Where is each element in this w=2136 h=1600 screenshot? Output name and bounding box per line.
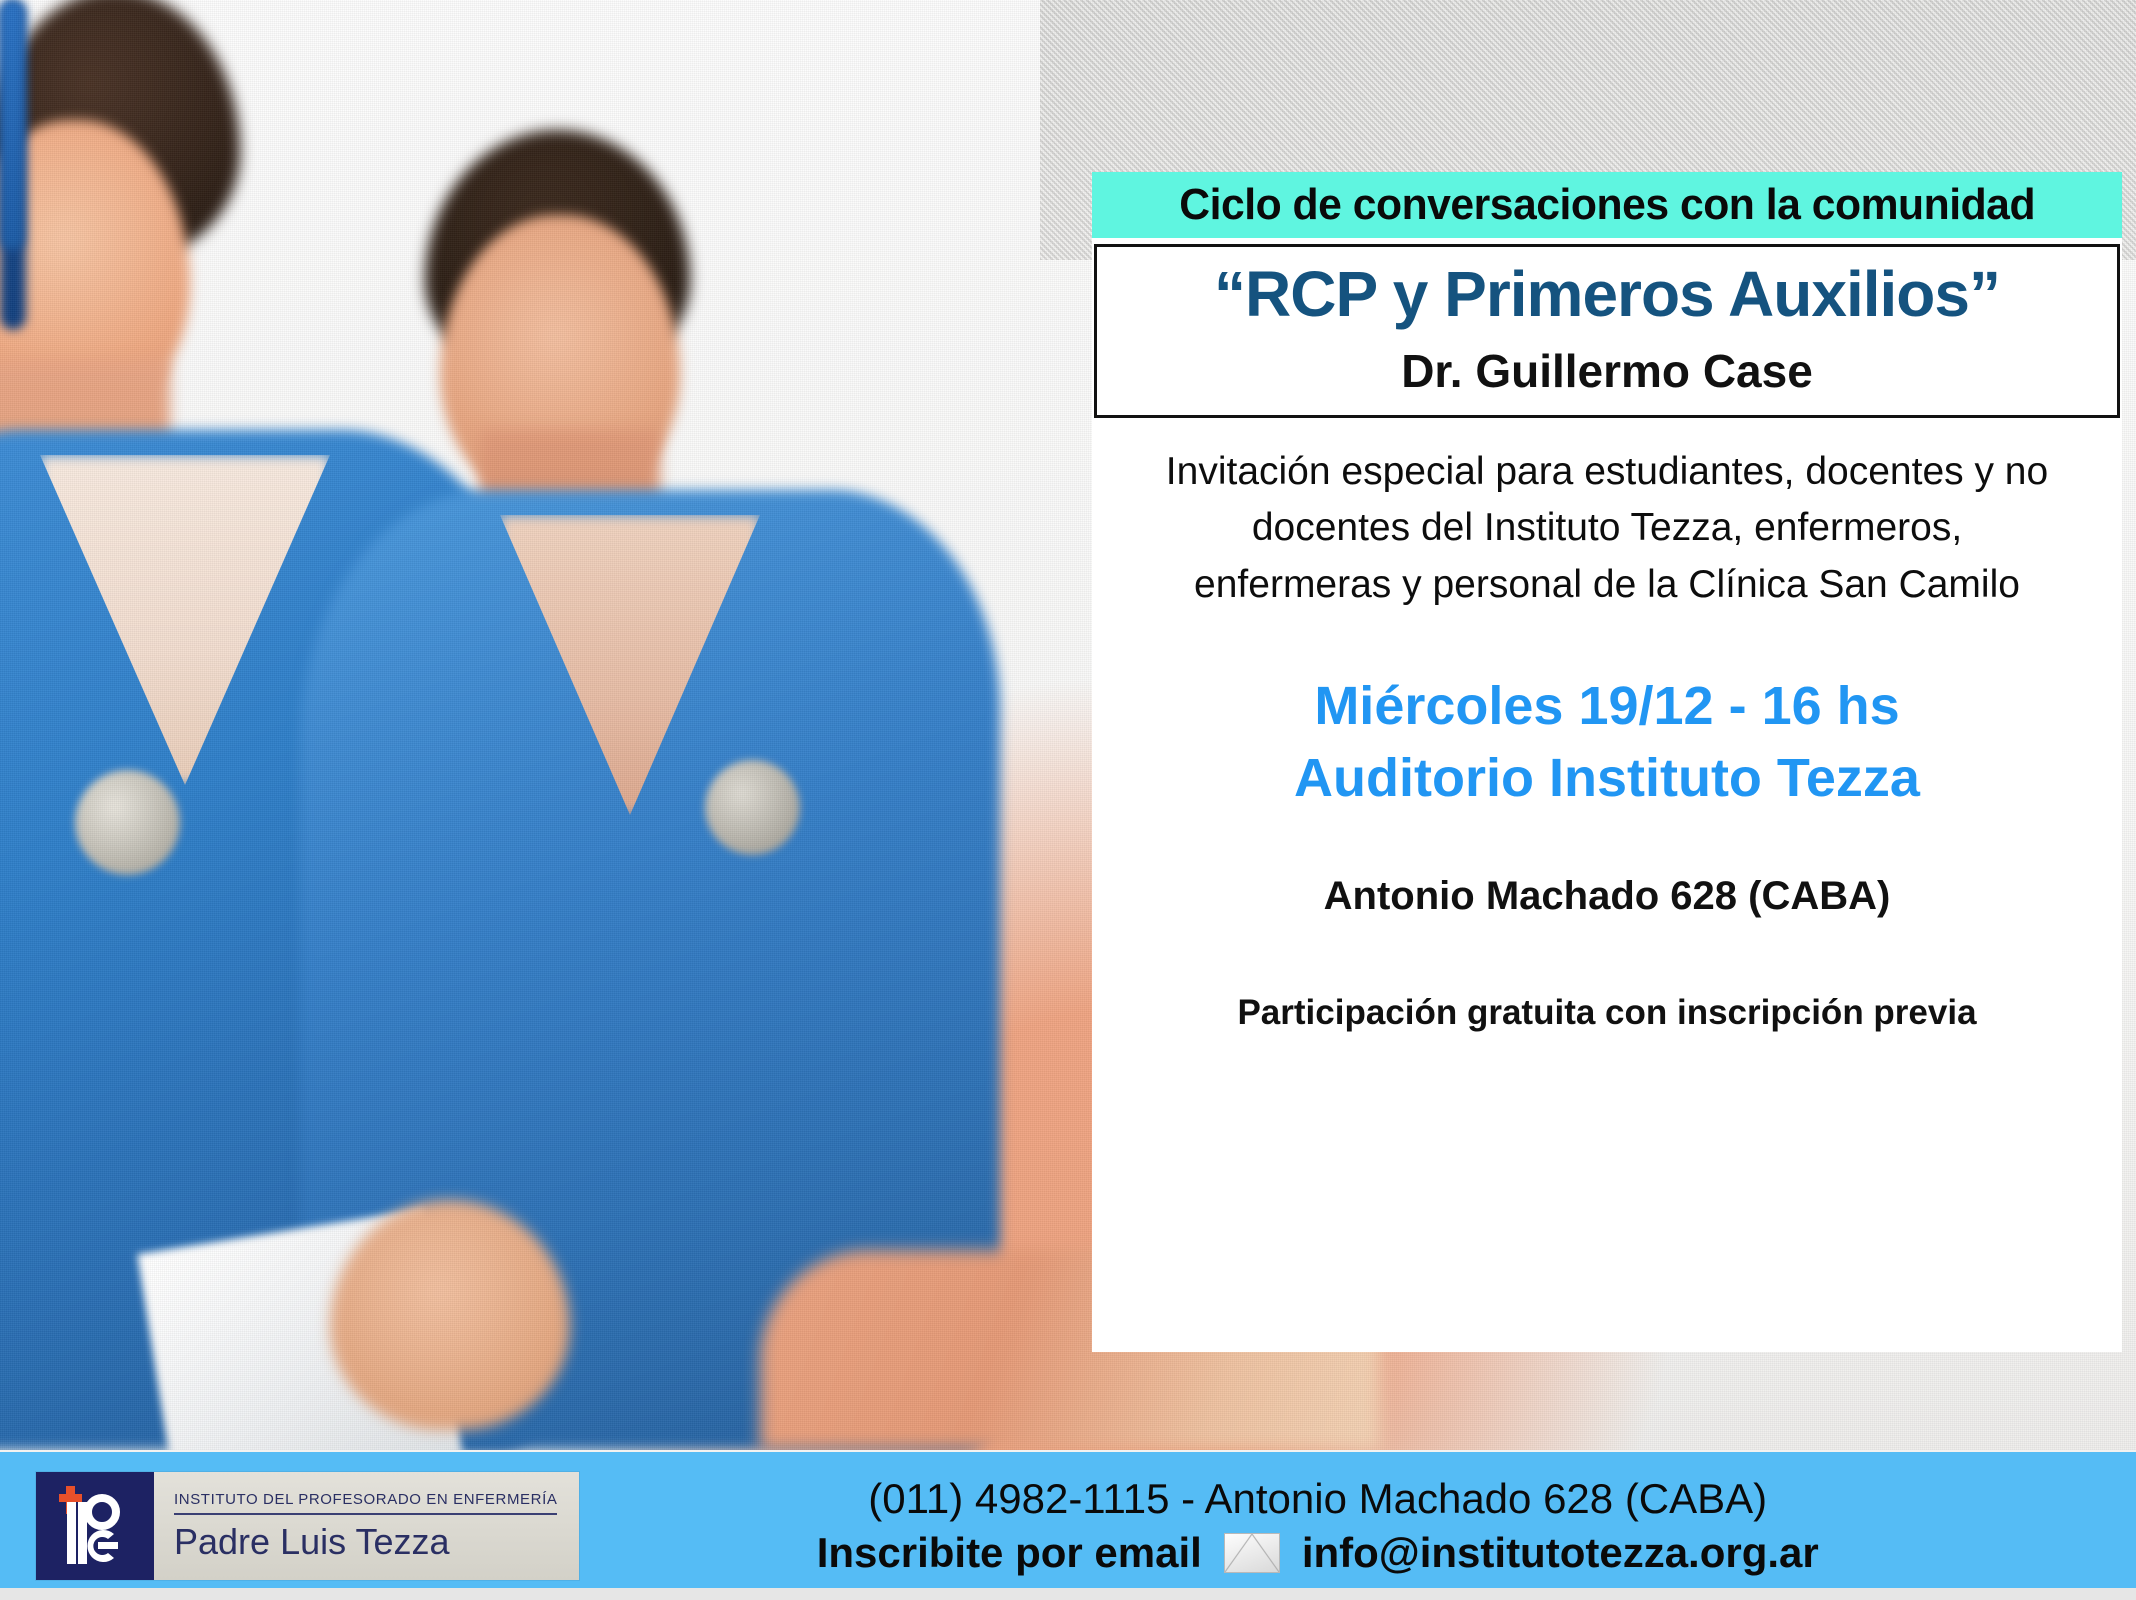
- invitation-line: Invitación especial para estudiantes, do…: [1126, 444, 2088, 501]
- invitation-text: Invitación especial para estudiantes, do…: [1126, 444, 2088, 614]
- series-band-label: Ciclo de conversaciones con la comunidad: [1179, 180, 2035, 230]
- event-date-time: Miércoles 19/12 - 16 hs: [1092, 671, 2122, 742]
- title-box: “RCP y Primeros Auxilios” Dr. Guillermo …: [1094, 244, 2120, 418]
- invitation-line: docentes del Instituto Tezza, enfermeros…: [1126, 500, 2088, 557]
- contact-info: (011) 4982-1115 - Antonio Machado 628 (C…: [499, 1474, 2136, 1578]
- event-venue: Auditorio Instituto Tezza: [1092, 743, 2122, 814]
- info-panel: Ciclo de conversaciones con la comunidad…: [1092, 172, 2122, 1352]
- email-prompt-label: Inscribite por email: [817, 1528, 1202, 1578]
- nurse-left-stethoscope-head: [75, 770, 180, 875]
- contact-email-row: Inscribite por email info@institutotezza…: [499, 1528, 2136, 1578]
- event-datetime-venue: Miércoles 19/12 - 16 hs Auditorio Instit…: [1092, 671, 2122, 814]
- institute-logo: INSTITUTO DEL PROFESORADO EN ENFERMERÍA …: [36, 1472, 579, 1580]
- event-speaker: Dr. Guillermo Case: [1107, 346, 2107, 397]
- footer-bar: INSTITUTO DEL PROFESORADO EN ENFERMERÍA …: [0, 1452, 2136, 1600]
- contact-email-address[interactable]: info@institutotezza.org.ar: [1302, 1528, 1819, 1578]
- invitation-line: enfermeras y personal de la Clínica San …: [1126, 557, 2088, 614]
- registration-note: Participación gratuita con inscripción p…: [1092, 993, 2122, 1033]
- event-title: “RCP y Primeros Auxilios”: [1107, 261, 2107, 328]
- series-band: Ciclo de conversaciones con la comunidad: [1092, 172, 2122, 238]
- logo-monogram-svg: [36, 1472, 154, 1580]
- nurse-right-stethoscope-head: [705, 760, 800, 855]
- nurse-right: [0, 0, 24, 250]
- contact-phone-address: (011) 4982-1115 - Antonio Machado 628 (C…: [499, 1474, 2136, 1524]
- envelope-icon: [1224, 1533, 1280, 1573]
- event-address: Antonio Machado 628 (CABA): [1092, 874, 2122, 919]
- poster-root: Ciclo de conversaciones con la comunidad…: [0, 0, 2136, 1600]
- nurse-right-stethoscope-cord: [0, 0, 24, 250]
- bottom-strip: [0, 1588, 2136, 1600]
- logo-monogram-icon: [36, 1472, 154, 1580]
